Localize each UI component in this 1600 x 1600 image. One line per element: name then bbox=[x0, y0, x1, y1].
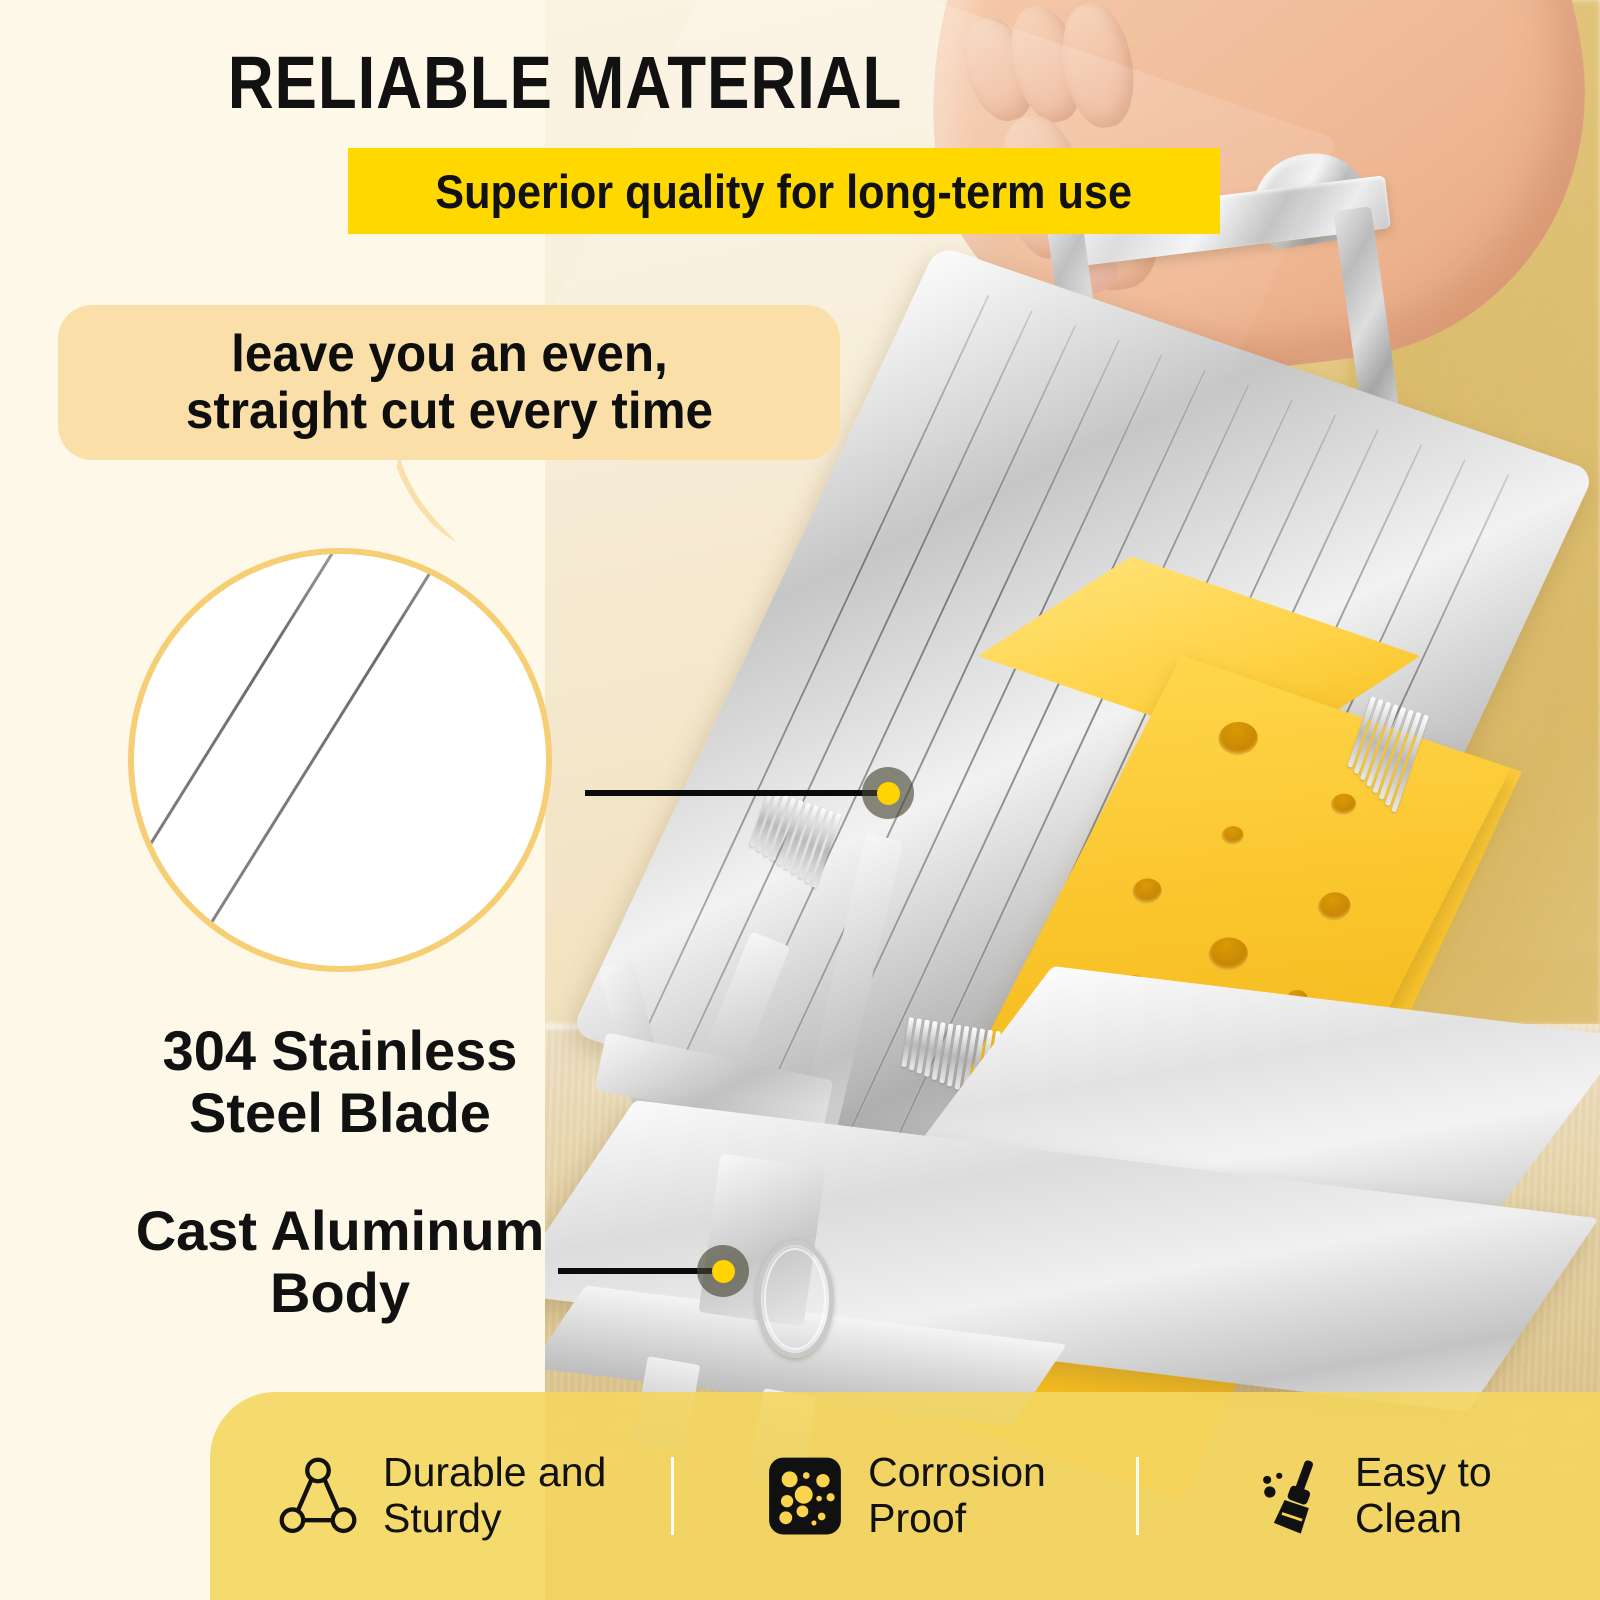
feature-label: Easy to Clean bbox=[1355, 1450, 1492, 1542]
product-photo bbox=[545, 0, 1600, 1600]
rust-spots-icon bbox=[764, 1455, 846, 1537]
feature-divider bbox=[1136, 1457, 1139, 1535]
feature-strip: Durable and Sturdy bbox=[210, 1392, 1600, 1600]
bubble-line-1: leave you an even, bbox=[231, 325, 668, 383]
callout-dot-blade bbox=[862, 767, 914, 819]
callout-label-body: Cast Aluminum Body bbox=[60, 1200, 620, 1323]
blade-closeup-circle bbox=[128, 548, 552, 972]
speech-bubble-tail bbox=[395, 452, 465, 547]
feature-easy-to-clean[interactable]: Easy to Clean bbox=[1139, 1450, 1600, 1542]
page-title: RELIABLE MATERIAL bbox=[79, 40, 1051, 125]
broom-icon bbox=[1247, 1453, 1333, 1539]
speech-bubble: leave you an even, straight cut every ti… bbox=[58, 305, 840, 460]
dot-core bbox=[712, 1260, 735, 1283]
feature-label: Durable and Sturdy bbox=[383, 1450, 606, 1542]
callout-dot-body bbox=[697, 1245, 749, 1297]
speech-bubble-text: leave you an even, straight cut every ti… bbox=[185, 326, 712, 438]
feature-corrosion-proof[interactable]: Corrosion Proof bbox=[674, 1450, 1135, 1542]
triangle-nodes-icon bbox=[275, 1453, 361, 1539]
connector-line-blade bbox=[585, 790, 890, 796]
callout-label-blade: 304 Stainless Steel Blade bbox=[60, 1020, 620, 1143]
feature-divider bbox=[671, 1457, 674, 1535]
feature-durable-sturdy[interactable]: Durable and Sturdy bbox=[210, 1450, 671, 1542]
pull-ring bbox=[756, 1240, 834, 1358]
feature-label: Corrosion Proof bbox=[868, 1450, 1046, 1542]
bubble-line-2: straight cut every time bbox=[185, 382, 712, 440]
dot-core bbox=[877, 782, 900, 805]
subtitle-banner: Superior quality for long-term use bbox=[348, 148, 1220, 234]
infographic-stage: RELIABLE MATERIAL Superior quality for l… bbox=[0, 0, 1600, 1600]
subtitle-text: Superior quality for long-term use bbox=[436, 164, 1133, 219]
